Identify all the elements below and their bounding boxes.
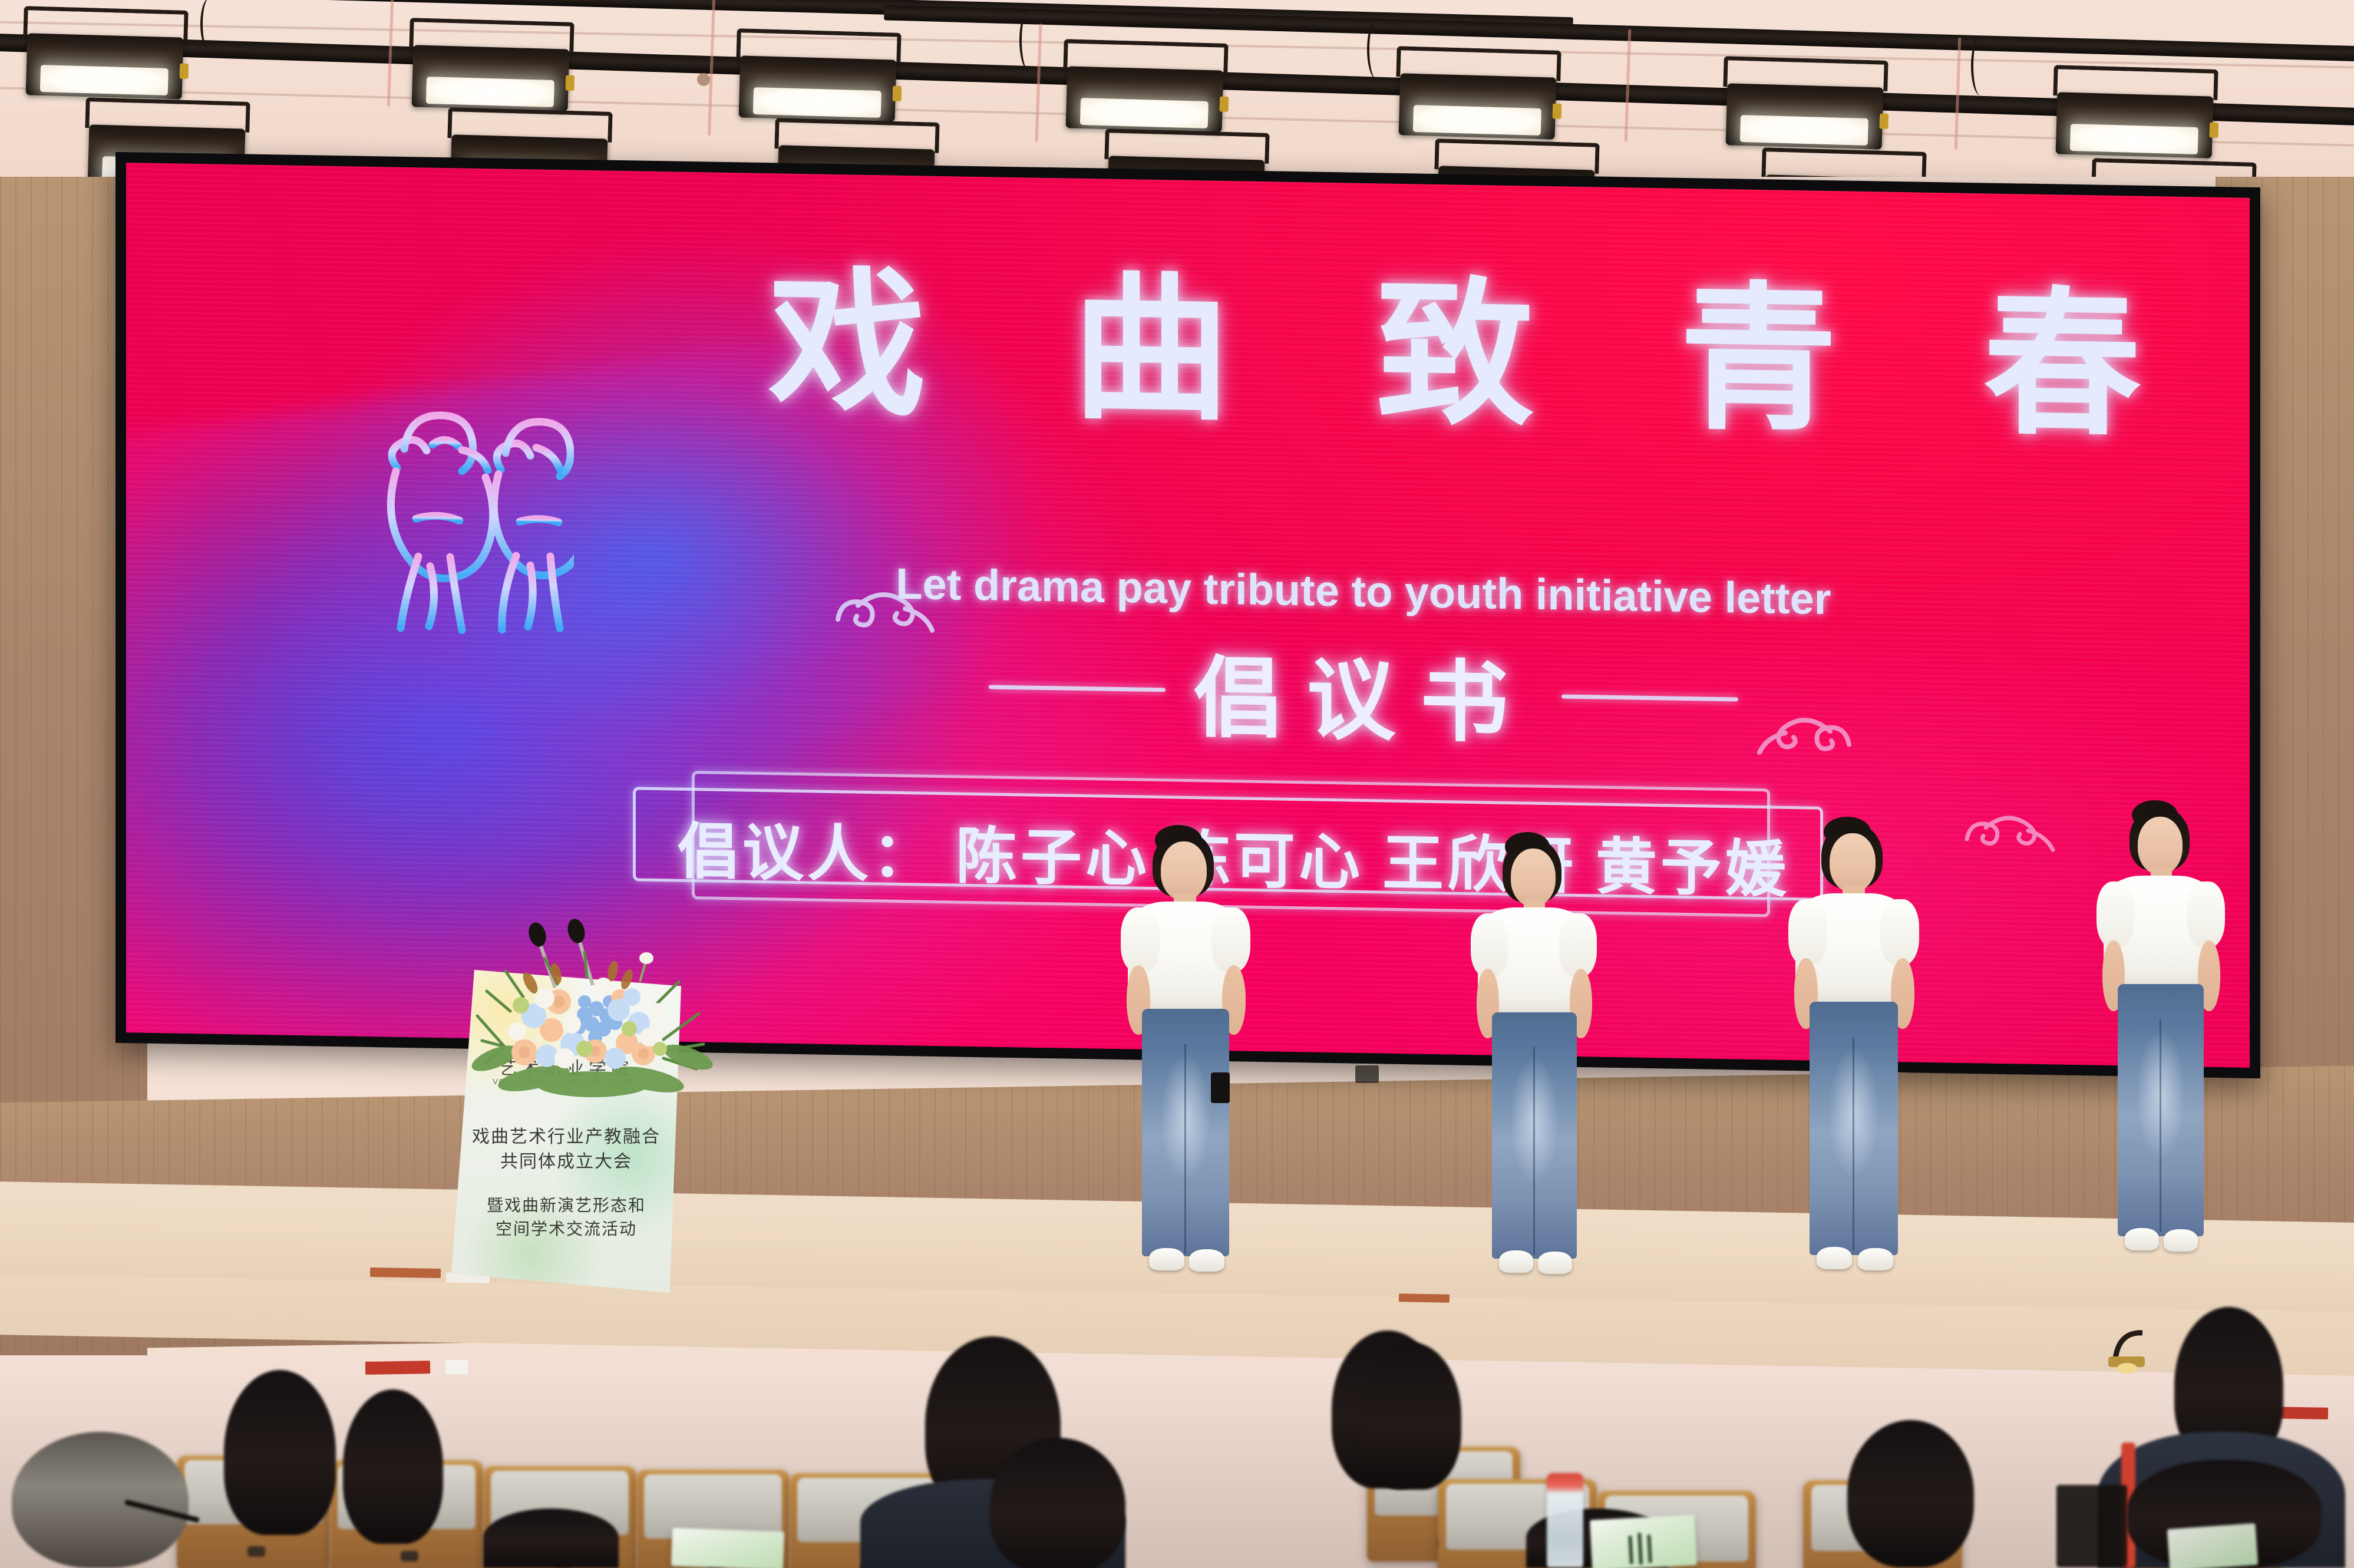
- podium-title-line-4: 空间学术交流活动: [451, 1216, 681, 1240]
- performer-4: [2066, 788, 2272, 1260]
- decorative-dash-left: [989, 685, 1166, 692]
- wall-outlet: [1355, 1065, 1379, 1083]
- podium-title-line-3: 暨戏曲新演艺形态和: [451, 1193, 681, 1216]
- performer-2: [1440, 819, 1646, 1290]
- audience-person-head: [1847, 1420, 1974, 1567]
- program-booklet: [2167, 1523, 2259, 1568]
- program-booklet: [1590, 1514, 1697, 1568]
- two-opera-figures-line-art: [362, 379, 574, 636]
- program-booklet: [671, 1528, 784, 1568]
- photo-scene: 戏 曲 致 青 春 Let drama pay tribute to youth…: [0, 0, 2354, 1568]
- title-char: 致: [1376, 272, 1534, 440]
- led-subtitle-chinese-row: 倡议书: [833, 628, 1894, 758]
- stage-led-panel-light: [26, 33, 184, 99]
- decorative-dash-right: [1561, 694, 1738, 701]
- performer-3: [1759, 806, 1965, 1277]
- floor-tape-mark: [1399, 1293, 1450, 1302]
- sprinkler-head: [697, 73, 710, 86]
- cloud-swirl-icon: [1959, 794, 2076, 855]
- floor-tape-mark: [370, 1267, 441, 1278]
- led-title-main: 戏 曲 致 青 春: [768, 262, 2141, 450]
- audience-person-head: [12, 1432, 189, 1568]
- stage-led-panel-light: [739, 55, 897, 121]
- audience-person-head: [990, 1438, 1125, 1568]
- water-bottle: [1547, 1473, 1583, 1567]
- audience-person-head: [224, 1370, 336, 1535]
- podium-title-line-2: 共同体成立大会: [451, 1147, 681, 1173]
- audience-person-head: [1361, 1342, 1461, 1490]
- led-subtitle-chinese: 倡议书: [1194, 626, 1533, 760]
- audience-person-head: [483, 1508, 619, 1568]
- title-char: 青: [1680, 277, 1838, 445]
- stage-led-panel-light: [1399, 73, 1557, 139]
- stage-led-panel-light: [412, 45, 570, 111]
- stage-led-panel-light: [1066, 66, 1224, 132]
- stage-led-panel-light: [1726, 83, 1884, 149]
- podium-title-line-1: 戏曲艺术行业产教融合: [451, 1122, 681, 1148]
- title-char: 春: [1983, 282, 2141, 450]
- stage-led-panel-light: [2056, 92, 2214, 158]
- speaker-grille: [2056, 1485, 2127, 1567]
- flower-arrangement: [469, 940, 717, 1098]
- stage-monitor-box: [1211, 1072, 1230, 1103]
- title-char: 戏: [768, 262, 926, 430]
- title-char: 曲: [1072, 267, 1230, 435]
- audience-person-head: [343, 1389, 443, 1544]
- wall-sign-white: [445, 1360, 468, 1374]
- performer-1: [1091, 813, 1297, 1285]
